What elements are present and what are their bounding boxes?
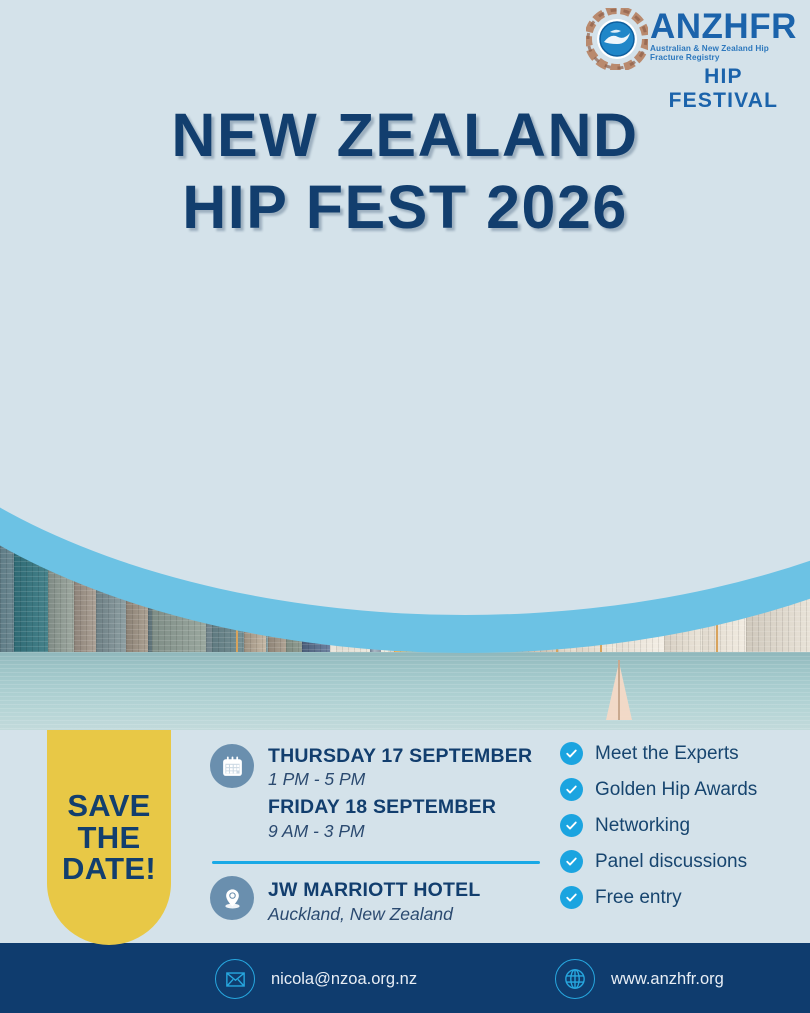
list-item: Networking (560, 814, 810, 837)
list-item: Golden Hip Awards (560, 778, 810, 801)
map-pin-icon (210, 876, 254, 920)
contact-footer: nicola@nzoa.org.nz www.anzhfr.org (0, 943, 810, 1013)
harbour-water (0, 652, 810, 730)
logo-tagline: Australian & New Zealand Hip Fracture Re… (650, 44, 797, 62)
skyline-photo (0, 255, 810, 730)
check-icon (560, 778, 583, 801)
badge-line-1: SAVE (62, 790, 156, 822)
feature-label: Panel discussions (595, 851, 747, 873)
title-line-1: NEW ZEALAND (0, 100, 810, 172)
save-the-date-badge: SAVE THE DATE! (47, 730, 171, 945)
day2-label: FRIDAY 18 SEPTEMBER (268, 796, 532, 819)
page-title: NEW ZEALAND HIP FEST 2026 (0, 100, 810, 244)
email-text: nicola@nzoa.org.nz (271, 970, 417, 989)
info-section: SAVE THE DATE! (0, 730, 810, 943)
venue-row: JW MARRIOTT HOTEL Auckland, New Zealand (210, 876, 540, 925)
feature-label: Golden Hip Awards (595, 779, 757, 801)
check-icon (560, 814, 583, 837)
feature-label: Free entry (595, 887, 682, 909)
feature-label: Networking (595, 815, 690, 837)
anzhfr-logo: ANZHFR Australian & New Zealand Hip Frac… (586, 6, 796, 86)
city-buildings (0, 358, 810, 658)
list-item: Free entry (560, 886, 810, 909)
logo-brand: ANZHFR (650, 10, 797, 43)
envelope-icon (215, 959, 255, 999)
email-contact[interactable]: nicola@nzoa.org.nz (215, 959, 417, 999)
badge-line-2: THE (62, 822, 156, 854)
check-icon (560, 886, 583, 909)
day2-time: 9 AM - 3 PM (268, 820, 532, 843)
check-icon (560, 850, 583, 873)
feature-label: Meet the Experts (595, 743, 739, 765)
flyer-poster: ANZHFR Australian & New Zealand Hip Frac… (0, 0, 810, 1013)
website-text: www.anzhfr.org (611, 970, 724, 989)
section-divider (212, 861, 540, 864)
day1-time: 1 PM - 5 PM (268, 768, 532, 791)
features-list: Meet the Experts Golden Hip Awards Netwo… (560, 742, 810, 922)
badge-line-3: DATE! (62, 853, 156, 885)
venue-name: JW MARRIOTT HOTEL (268, 879, 480, 902)
globe-icon (555, 959, 595, 999)
venue-city: Auckland, New Zealand (268, 904, 480, 925)
event-details: THURSDAY 17 SEPTEMBER 1 PM - 5 PM FRIDAY… (210, 744, 540, 925)
title-line-2: HIP FEST 2026 (0, 172, 810, 244)
check-icon (560, 742, 583, 765)
list-item: Meet the Experts (560, 742, 810, 765)
hero-image (0, 255, 810, 730)
dates-row: THURSDAY 17 SEPTEMBER 1 PM - 5 PM FRIDAY… (210, 744, 540, 847)
anzhfr-globe-gear-logo-icon (586, 8, 648, 70)
website-contact[interactable]: www.anzhfr.org (555, 959, 724, 999)
list-item: Panel discussions (560, 850, 810, 873)
day1-label: THURSDAY 17 SEPTEMBER (268, 745, 532, 768)
calendar-icon (210, 744, 254, 788)
